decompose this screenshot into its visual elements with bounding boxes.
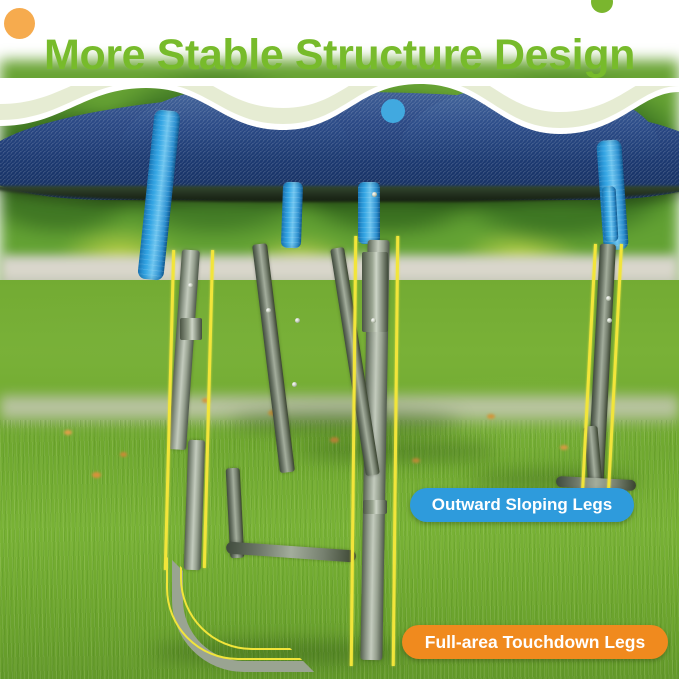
leg-bolt — [295, 318, 300, 323]
sleeve-texture — [281, 182, 303, 249]
fallen-leaf — [120, 452, 127, 457]
pole-sleeve — [281, 182, 303, 249]
badge-label: Full-area Touchdown Legs — [425, 632, 645, 653]
badge-full-area-touchdown-legs: Full-area Touchdown Legs — [402, 625, 668, 659]
sleeve-texture — [358, 182, 380, 244]
leg-bolt — [188, 283, 193, 288]
fallen-leaf — [487, 414, 495, 419]
page-title: More Stable Structure Design — [0, 30, 679, 80]
orange-dot-icon — [4, 8, 35, 39]
product-photo — [0, 0, 679, 679]
leg-bolt — [266, 308, 271, 313]
pole-sleeve — [602, 186, 619, 243]
leg-bolt — [372, 192, 377, 197]
product-feature-poster: More Stable Structure Design Outward Slo… — [0, 0, 679, 679]
leg-joint — [180, 318, 202, 340]
leg-bolt — [606, 296, 611, 301]
fallen-leaf — [92, 472, 101, 478]
leg-bolt — [292, 382, 297, 387]
sleeve-texture — [602, 186, 619, 243]
badge-outward-sloping-legs: Outward Sloping Legs — [410, 488, 634, 522]
fallen-leaf — [560, 445, 568, 450]
ground-shadow — [230, 408, 460, 434]
leg-bolt — [371, 318, 376, 323]
leg-joint — [363, 500, 387, 514]
pole-sleeve — [358, 182, 380, 244]
badge-label: Outward Sloping Legs — [432, 495, 612, 515]
fallen-leaf — [64, 430, 72, 435]
leg-bolt — [607, 318, 612, 323]
blue-dot-icon — [381, 99, 405, 123]
